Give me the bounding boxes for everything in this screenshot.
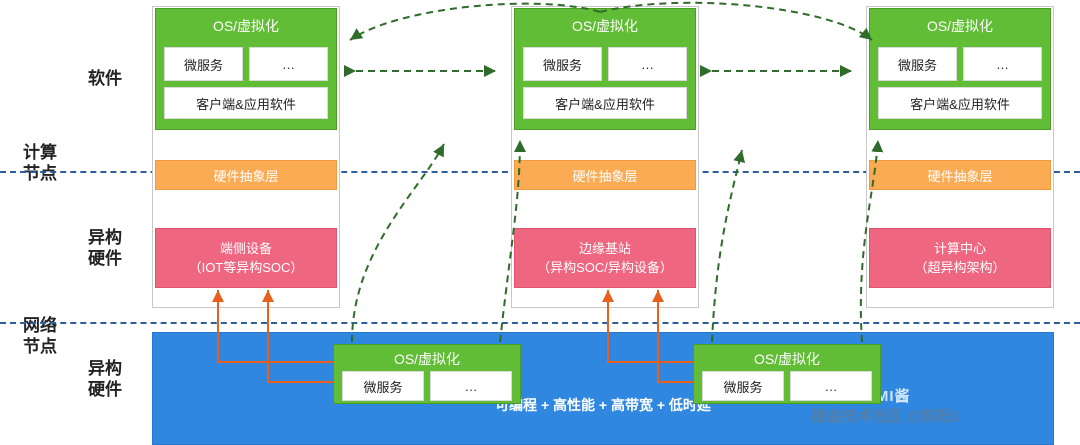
column-datacenter-services-row: 微服务 … bbox=[878, 47, 1042, 79]
column-datacenter-hardware[interactable]: 计算中心 （超异构架构） bbox=[869, 228, 1051, 288]
label-software-text: 软件 bbox=[88, 69, 122, 88]
column-device-hardware-line1: 端侧设备 bbox=[220, 239, 272, 259]
column-datacenter-cell-microservice[interactable]: 微服务 bbox=[878, 47, 957, 81]
divider-network-node bbox=[0, 322, 1080, 324]
label-hetero-hw-bottom: 异构 硬件 bbox=[60, 358, 150, 401]
column-device-services-row: 微服务 … bbox=[164, 47, 328, 79]
column-edge-cell-client-app[interactable]: 客户端&应用软件 bbox=[523, 87, 687, 119]
column-edge-hardware-line1: 边缘基站 bbox=[579, 239, 631, 259]
column-device-cell-microservice[interactable]: 微服务 bbox=[164, 47, 243, 81]
label-hetero-hw-top: 异构 硬件 bbox=[60, 227, 150, 270]
label-hetero-hw-top-line2: 硬件 bbox=[60, 248, 150, 269]
column-device-hardware-line2: （IOT等异构SOC） bbox=[189, 258, 304, 278]
column-edge-cell-more[interactable]: … bbox=[608, 47, 687, 81]
label-network-node-line1: 网络 bbox=[0, 315, 80, 336]
network-node-1-os-title: OS/虚拟化 bbox=[334, 345, 520, 369]
label-hetero-hw-bottom-line1: 异构 bbox=[60, 358, 150, 379]
watermark-center: 掘金技术社区 @斜阳1 bbox=[812, 405, 959, 426]
label-software: 软件 bbox=[60, 68, 150, 89]
network-band: 可编程 + 高性能 + 高带宽 + 低时延 ZOMI酱 bbox=[152, 332, 1054, 445]
column-datacenter-cell-more[interactable]: … bbox=[963, 47, 1042, 81]
diagram-root: 软件 计算 节点 异构 硬件 网络 节点 异构 硬件 OS/虚拟化 微服务 … … bbox=[0, 0, 1080, 443]
column-device-os-title: OS/虚拟化 bbox=[156, 9, 336, 36]
column-datacenter-client-row: 客户端&应用软件 bbox=[878, 87, 1042, 117]
label-network-node-line2: 节点 bbox=[0, 336, 80, 357]
column-edge-hal[interactable]: 硬件抽象层 bbox=[514, 160, 696, 190]
network-node-2-os-box[interactable]: OS/虚拟化 微服务 … bbox=[693, 344, 881, 404]
column-device-cell-client-app[interactable]: 客户端&应用软件 bbox=[164, 87, 328, 119]
label-hetero-hw-bottom-line2: 硬件 bbox=[60, 379, 150, 400]
column-device-hal[interactable]: 硬件抽象层 bbox=[155, 160, 337, 190]
column-edge-os-title: OS/虚拟化 bbox=[515, 9, 695, 36]
network-node-2-services-row: 微服务 … bbox=[702, 371, 872, 399]
network-node-1-cell-more[interactable]: … bbox=[430, 371, 512, 401]
column-datacenter-os-box[interactable]: OS/虚拟化 微服务 … 客户端&应用软件 bbox=[869, 8, 1051, 130]
column-edge-hardware-line2: （异构SOC/异构设备） bbox=[537, 258, 673, 278]
network-node-1-cell-microservice[interactable]: 微服务 bbox=[342, 371, 424, 401]
network-node-1-os-box[interactable]: OS/虚拟化 微服务 … bbox=[333, 344, 521, 404]
column-edge-client-row: 客户端&应用软件 bbox=[523, 87, 687, 117]
column-device-cell-more[interactable]: … bbox=[249, 47, 328, 81]
column-datacenter-hal[interactable]: 硬件抽象层 bbox=[869, 160, 1051, 190]
column-device-hardware[interactable]: 端侧设备 （IOT等异构SOC） bbox=[155, 228, 337, 288]
network-node-2-cell-more[interactable]: … bbox=[790, 371, 872, 401]
column-device-os-box[interactable]: OS/虚拟化 微服务 … 客户端&应用软件 bbox=[155, 8, 337, 130]
column-datacenter-hardware-line2: （超异构架构） bbox=[914, 258, 1005, 278]
label-hetero-hw-top-line1: 异构 bbox=[60, 227, 150, 248]
column-device-client-row: 客户端&应用软件 bbox=[164, 87, 328, 117]
column-datacenter-hardware-line1: 计算中心 bbox=[934, 239, 986, 259]
network-node-2-os-title: OS/虚拟化 bbox=[694, 345, 880, 369]
network-node-2-cell-microservice[interactable]: 微服务 bbox=[702, 371, 784, 401]
label-compute-node-line1: 计算 bbox=[0, 142, 80, 163]
column-datacenter-os-title: OS/虚拟化 bbox=[870, 9, 1050, 36]
label-compute-node: 计算 节点 bbox=[0, 142, 80, 185]
label-compute-node-line2: 节点 bbox=[0, 163, 80, 184]
column-datacenter-cell-client-app[interactable]: 客户端&应用软件 bbox=[878, 87, 1042, 119]
column-edge-os-box[interactable]: OS/虚拟化 微服务 … 客户端&应用软件 bbox=[514, 8, 696, 130]
network-node-1-services-row: 微服务 … bbox=[342, 371, 512, 399]
column-edge-cell-microservice[interactable]: 微服务 bbox=[523, 47, 602, 81]
column-edge-hardware[interactable]: 边缘基站 （异构SOC/异构设备） bbox=[514, 228, 696, 288]
column-edge-services-row: 微服务 … bbox=[523, 47, 687, 79]
